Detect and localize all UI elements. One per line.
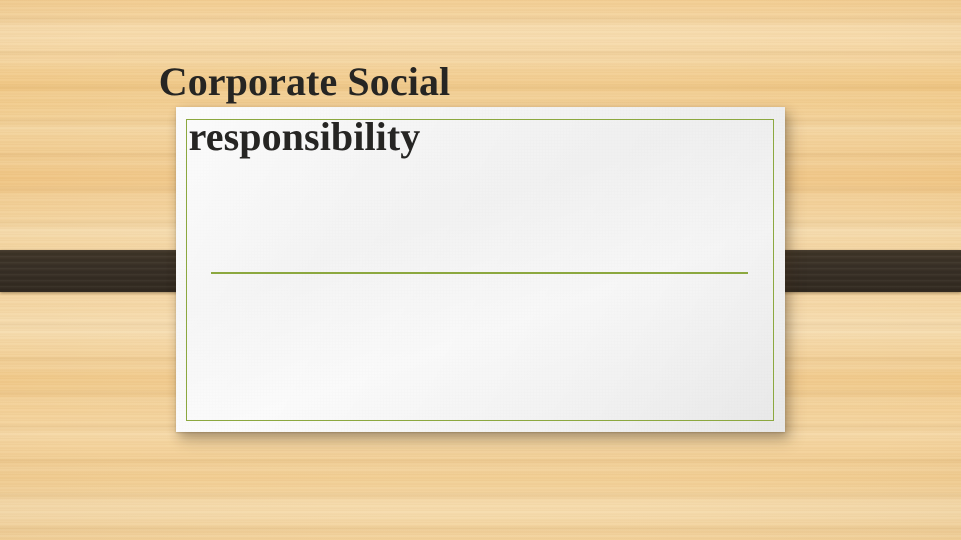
- page-title: Corporate Social responsibility: [36, 54, 573, 164]
- slide-canvas: Corporate Social responsibility: [0, 0, 961, 540]
- ribbon-band-right: [764, 250, 961, 292]
- page-title-line-1: Corporate Social: [159, 59, 451, 104]
- page-title-line-2: responsibility: [189, 114, 421, 159]
- title-block: Corporate Social responsibility: [36, 54, 573, 164]
- ribbon-band-left: [0, 250, 197, 292]
- title-underline-rule: [211, 272, 748, 274]
